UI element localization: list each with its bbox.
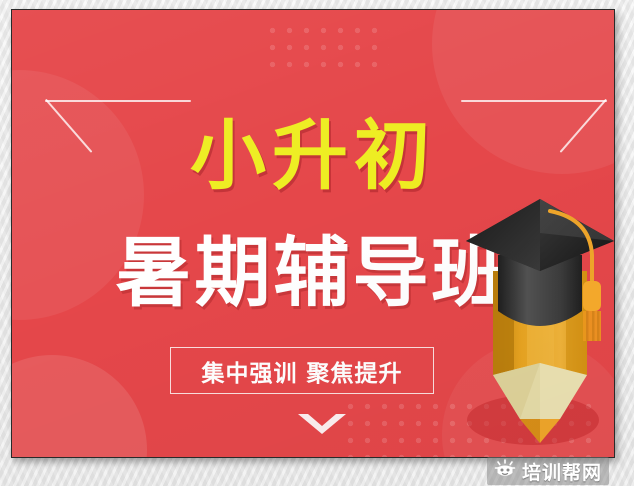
subtitle-box: 集中强训 聚焦提升 xyxy=(170,347,434,394)
subtitle-text: 集中强训 聚焦提升 xyxy=(201,354,402,388)
watermark-label: 培训帮网 xyxy=(522,458,602,485)
bracket-bar xyxy=(45,100,191,102)
watermark: 培训帮网 xyxy=(487,457,609,485)
bracket-bar xyxy=(461,100,607,102)
decor-circle-bottom-left xyxy=(11,355,147,458)
smiley-sunburst-logo-icon xyxy=(494,459,516,484)
chevron-down-icon xyxy=(298,414,346,436)
promo-poster: 小升初 暑期辅导班 集中强训 聚焦提升 xyxy=(11,9,615,458)
headline-primary: 小升初 xyxy=(12,118,614,194)
dot-grid-top-right xyxy=(264,22,389,77)
poster-canvas: 小升初 暑期辅导班 集中强训 聚焦提升 xyxy=(0,0,634,486)
graduation-cap-pencil-illustration xyxy=(464,193,615,443)
